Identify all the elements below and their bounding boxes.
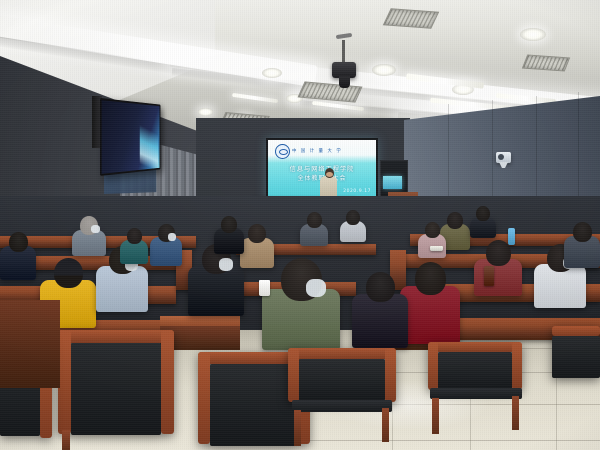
person-head (127, 228, 142, 244)
presenter-face (326, 172, 333, 177)
camera-lens-icon (498, 154, 504, 160)
face-mask (91, 225, 100, 233)
attendee-long-hair-left (352, 272, 408, 348)
chair-top-rail (58, 330, 174, 343)
paper-cup (259, 280, 270, 296)
chair-backrest-pad (552, 336, 600, 378)
chair-top-rail (552, 326, 600, 336)
person-head (9, 232, 28, 252)
chair-backrest-pad (438, 352, 512, 390)
projector-mount-pole (342, 40, 345, 64)
person-head (425, 222, 440, 238)
chair-stile (198, 352, 210, 444)
attendee-grey-hair-mask (72, 216, 106, 256)
person-torso (352, 294, 408, 348)
wall-mounted-display (100, 98, 161, 176)
downlight-icon (262, 68, 282, 78)
desk-row-front (160, 316, 240, 326)
chair (552, 326, 600, 380)
chair-stile (385, 348, 396, 402)
person-head (248, 224, 266, 243)
downlight-icon (372, 64, 396, 76)
chair-stile (288, 348, 299, 402)
attendee-far-right-edge (564, 222, 600, 268)
chair-stile (428, 342, 438, 390)
chair-top-rail (428, 342, 522, 352)
chair (58, 330, 174, 450)
face-mask (306, 279, 326, 297)
attendee-white-shirt-back (340, 210, 366, 242)
chair-backrest-pad (210, 364, 298, 446)
face-mask (219, 258, 233, 271)
screen-title-line-1: 信息与网络工程学院 (268, 164, 376, 173)
person-head (221, 216, 237, 233)
attendee-tan-shirt (240, 224, 274, 268)
tv-screen-wallpaper (140, 104, 158, 170)
person-head (54, 258, 83, 288)
person-head (573, 222, 592, 242)
chair-stile (512, 342, 522, 390)
screen-date: 2020.9.17 (343, 189, 371, 194)
person-head (415, 262, 446, 295)
chair-leg (62, 430, 70, 450)
chair-stile (161, 330, 174, 434)
chair-backrest-pad (299, 359, 385, 401)
attendee-navy-shirt (0, 232, 36, 280)
hvac-vent (383, 8, 440, 28)
lecture-hall-photograph: 中 国 计 量 大 学 信息与网络工程学院 全体教职工大会 2020.9.17 (0, 0, 600, 450)
notepad-right (430, 246, 443, 251)
attendee-red-vest (400, 262, 460, 344)
chair-leg (382, 408, 389, 442)
screen-university-name: 中 国 计 量 大 学 (292, 148, 342, 154)
chair-seat (292, 400, 392, 412)
person-head (307, 212, 322, 228)
attendee-teal-shirt (120, 228, 148, 264)
chair (288, 348, 396, 404)
face-mask (168, 233, 176, 241)
attendee-green-striped (262, 258, 340, 350)
chair-leg (432, 398, 439, 434)
desk-side-panel (0, 300, 60, 388)
projector-lens-icon (339, 76, 350, 88)
attendee-black-shirt-mid (214, 216, 244, 254)
attendee-dark-back-right (470, 206, 496, 238)
chair-seat (430, 388, 522, 399)
thermos-flask (484, 266, 494, 286)
hvac-vent (522, 54, 570, 71)
person-head (447, 212, 463, 229)
attendee-red-plaid (474, 240, 522, 296)
chair-leg (294, 410, 301, 446)
chair (428, 342, 522, 392)
floor-tile-line (260, 440, 600, 441)
chair-backrest-pad (71, 343, 161, 435)
attendee-grey-shirt-back (300, 212, 328, 246)
attendee-pink-scarf (418, 222, 446, 258)
rack-monitor-screen (383, 176, 402, 189)
chair-top-rail (288, 348, 396, 359)
attendee-blue-shirt-mid (150, 224, 182, 266)
attendee-dark-jacket (188, 244, 244, 316)
university-emblem-icon (275, 144, 290, 159)
water-bottle (508, 228, 515, 245)
downlight-icon (520, 28, 546, 41)
person-head (476, 206, 490, 221)
person-head (346, 210, 360, 225)
chair-leg (512, 396, 519, 430)
person-head (366, 272, 395, 302)
downlight-icon (198, 108, 213, 116)
